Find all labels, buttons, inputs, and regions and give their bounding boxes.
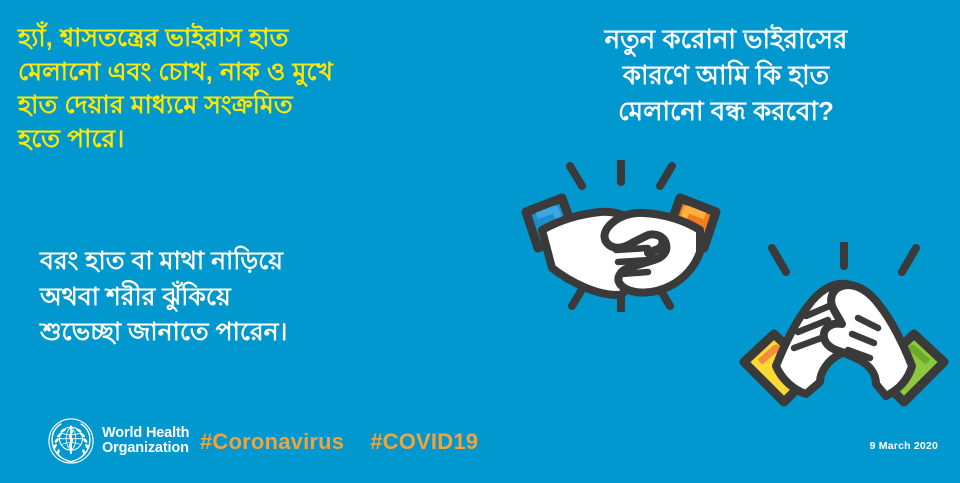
who-wordmark: World Health Organization xyxy=(102,426,189,456)
forearm-motion-dashes xyxy=(772,242,916,272)
date-stamp: 9 March 2020 xyxy=(870,440,938,452)
question-line-1: নতুন করোনা ভাইরাসের xyxy=(500,22,952,58)
hashtag-covid19[interactable]: #COVID19 xyxy=(370,429,478,455)
forearm-clasp-illustration xyxy=(728,242,960,420)
answer-line-2: মেলানো এবং চোখ, নাক ও মুখে xyxy=(18,56,468,90)
advice-line-2: অথবা শরীর ঝুঁকিয়ে xyxy=(40,280,510,316)
who-wordmark-line-2: Organization xyxy=(102,441,189,456)
question-line-3: মেলানো বন্ধ করবো? xyxy=(500,94,952,130)
handshake-illustration xyxy=(508,160,734,312)
who-emblem-icon xyxy=(48,418,94,464)
question-line-2: কারণে আমি কি হাত xyxy=(500,58,952,94)
advice-line-1: বরং হাত বা মাথা নাড়িয়ে xyxy=(40,244,510,280)
who-wordmark-line-1: World Health xyxy=(102,426,189,441)
handshake-motion-dashes-top xyxy=(570,162,672,186)
answer-line-4: হতে পারে। xyxy=(18,123,468,157)
answer-paragraph: হ্যাঁ, শ্বাসতন্ত্রের ভাইরাস হাত মেলানো এ… xyxy=(18,22,468,156)
answer-line-3: হাত দেয়ার মাধ্যমে সংক্রমিত xyxy=(18,89,468,123)
answer-line-1: হ্যাঁ, শ্বাসতন্ত্রের ভাইরাস হাত xyxy=(18,22,468,56)
hashtag-coronavirus[interactable]: #Coronavirus xyxy=(200,429,344,455)
who-covid-infographic: হ্যাঁ, শ্বাসতন্ত্রের ভাইরাস হাত মেলানো এ… xyxy=(0,0,960,483)
advice-paragraph: বরং হাত বা মাথা নাড়িয়ে অথবা শরীর ঝুঁকি… xyxy=(40,244,510,351)
who-logo: World Health Organization xyxy=(48,418,189,464)
right-hand xyxy=(824,285,912,396)
question-heading: নতুন করোনা ভাইরাসের কারণে আমি কি হাত মেল… xyxy=(500,22,952,130)
hashtag-group: #Coronavirus #COVID19 xyxy=(200,429,478,455)
advice-line-3: শুভেচ্ছা জানাতে পারেন। xyxy=(40,315,510,351)
